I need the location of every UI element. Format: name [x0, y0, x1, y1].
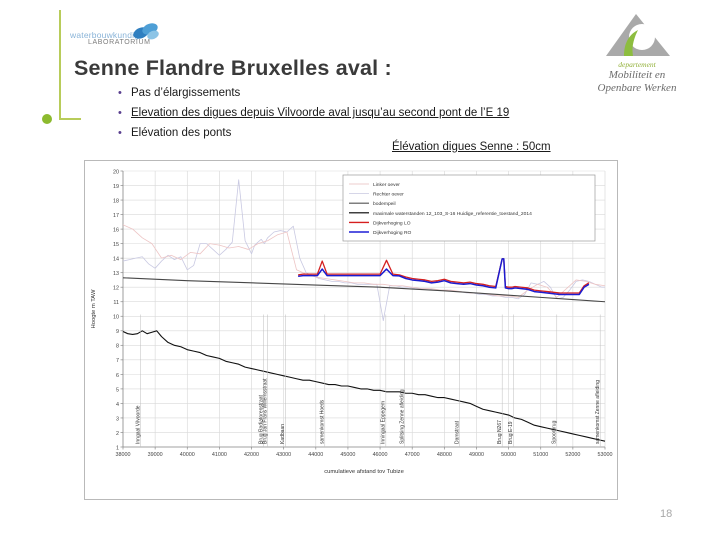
- decor-vertical-line: [59, 10, 61, 120]
- chart-caption: Élévation digues Senne : 50cm: [392, 141, 551, 153]
- waterbouwkundig-laboratorium-logo: waterbouwkundig LABORATORIUM: [70, 22, 185, 52]
- svg-text:bodempeil: bodempeil: [373, 201, 396, 207]
- svg-text:45000: 45000: [340, 452, 355, 458]
- svg-text:11: 11: [113, 300, 119, 306]
- svg-text:Dijkverhoging LO: Dijkverhoging LO: [373, 220, 411, 226]
- slide-root: waterbouwkundig LABORATORIUM departement…: [0, 0, 720, 540]
- svg-text:Inngaal Vilvoorde: Inngaal Vilvoorde: [135, 405, 141, 444]
- svg-text:Spoorbrug: Spoorbrug: [552, 420, 558, 444]
- svg-text:Inningaal Eppegem: Inningaal Eppegem: [381, 401, 387, 444]
- svg-text:2: 2: [116, 431, 119, 437]
- list-item: • Pas d’élargissements: [118, 86, 638, 101]
- svg-text:18: 18: [113, 198, 119, 204]
- svg-text:43000: 43000: [276, 452, 291, 458]
- svg-text:14: 14: [113, 257, 119, 263]
- svg-text:Dijkverhoging RO: Dijkverhoging RO: [373, 230, 412, 236]
- svg-text:5: 5: [116, 387, 119, 393]
- elevation-profile-chart: 1234567891011121314151617181920380003900…: [85, 161, 617, 499]
- svg-text:Brug N267: Brug N267: [497, 420, 503, 444]
- svg-text:Brug E-19: Brug E-19: [508, 421, 514, 444]
- svg-text:Kadbaan: Kadbaan: [280, 424, 286, 444]
- svg-text:Hoogte m TAW: Hoogte m TAW: [91, 289, 97, 328]
- svg-text:47000: 47000: [405, 452, 420, 458]
- svg-text:16: 16: [113, 228, 119, 234]
- svg-text:10: 10: [113, 315, 119, 321]
- svg-text:44000: 44000: [308, 452, 323, 458]
- svg-text:50000: 50000: [501, 452, 516, 458]
- svg-text:Damstraat: Damstraat: [455, 420, 461, 444]
- svg-text:4: 4: [116, 402, 119, 408]
- svg-text:samenkomst Hoeds: samenkomst Hoeds: [320, 399, 326, 444]
- svg-text:41000: 41000: [212, 452, 227, 458]
- svg-text:40000: 40000: [180, 452, 195, 458]
- bullet-list: • Pas d’élargissements • Elevation des d…: [118, 86, 638, 146]
- svg-text:19: 19: [113, 184, 119, 190]
- svg-text:1: 1: [116, 445, 119, 451]
- svg-text:3: 3: [116, 416, 119, 422]
- svg-text:51000: 51000: [533, 452, 548, 458]
- svg-text:Brug Jan Frans Willemsstraat: Brug Jan Frans Willemsstraat: [262, 378, 268, 444]
- svg-text:13: 13: [113, 271, 119, 277]
- page-number: 18: [660, 508, 672, 520]
- decor-horizontal-line: [59, 118, 81, 120]
- svg-text:17: 17: [113, 213, 119, 219]
- svg-text:samenkomst Zenne afleiding: samenkomst Zenne afleiding: [595, 380, 601, 444]
- bullet-marker: •: [118, 126, 131, 141]
- chart-container: 1234567891011121314151617181920380003900…: [84, 160, 618, 500]
- svg-text:maximale waterstanden 12_103_S: maximale waterstanden 12_103_S-16 Huidig…: [373, 211, 532, 217]
- svg-text:cumulatieve afstand tov Tubize: cumulatieve afstand tov Tubize: [324, 469, 404, 475]
- svg-text:49000: 49000: [469, 452, 484, 458]
- page-title: Senne Flandre Bruxelles aval :: [74, 56, 392, 81]
- svg-text:15: 15: [113, 242, 119, 248]
- bullet-text: Elévation des ponts: [131, 126, 638, 141]
- svg-text:Splitsing Zenne afleiding: Splitsing Zenne afleiding: [399, 389, 405, 444]
- svg-text:7: 7: [116, 358, 119, 364]
- svg-text:Linker oever: Linker oever: [373, 182, 400, 188]
- svg-text:52000: 52000: [565, 452, 580, 458]
- svg-text:8: 8: [116, 344, 119, 350]
- water-droplets-icon: [132, 22, 160, 42]
- mow-departement-label: departement: [572, 60, 702, 69]
- bullet-marker: •: [118, 86, 131, 101]
- svg-text:46000: 46000: [373, 452, 388, 458]
- svg-text:53000: 53000: [598, 452, 613, 458]
- mow-line-1: Mobiliteit en: [572, 69, 702, 82]
- bullet-text: Pas d’élargissements: [131, 86, 638, 101]
- mow-triangle-icon: [602, 12, 672, 58]
- bullet-marker: •: [118, 106, 131, 121]
- svg-text:38000: 38000: [116, 452, 131, 458]
- svg-text:Rechter oever: Rechter oever: [373, 192, 404, 198]
- svg-text:39000: 39000: [148, 452, 163, 458]
- svg-text:6: 6: [116, 373, 119, 379]
- svg-text:9: 9: [116, 329, 119, 335]
- decor-dot: [42, 114, 52, 124]
- svg-text:12: 12: [113, 286, 119, 292]
- svg-text:20: 20: [113, 169, 119, 175]
- svg-text:48000: 48000: [437, 452, 452, 458]
- list-item: • Elevation des digues depuis Vilvoorde …: [118, 106, 638, 121]
- bullet-text: Elevation des digues depuis Vilvoorde av…: [131, 106, 638, 121]
- list-item: • Elévation des ponts: [118, 126, 638, 141]
- svg-text:42000: 42000: [244, 452, 259, 458]
